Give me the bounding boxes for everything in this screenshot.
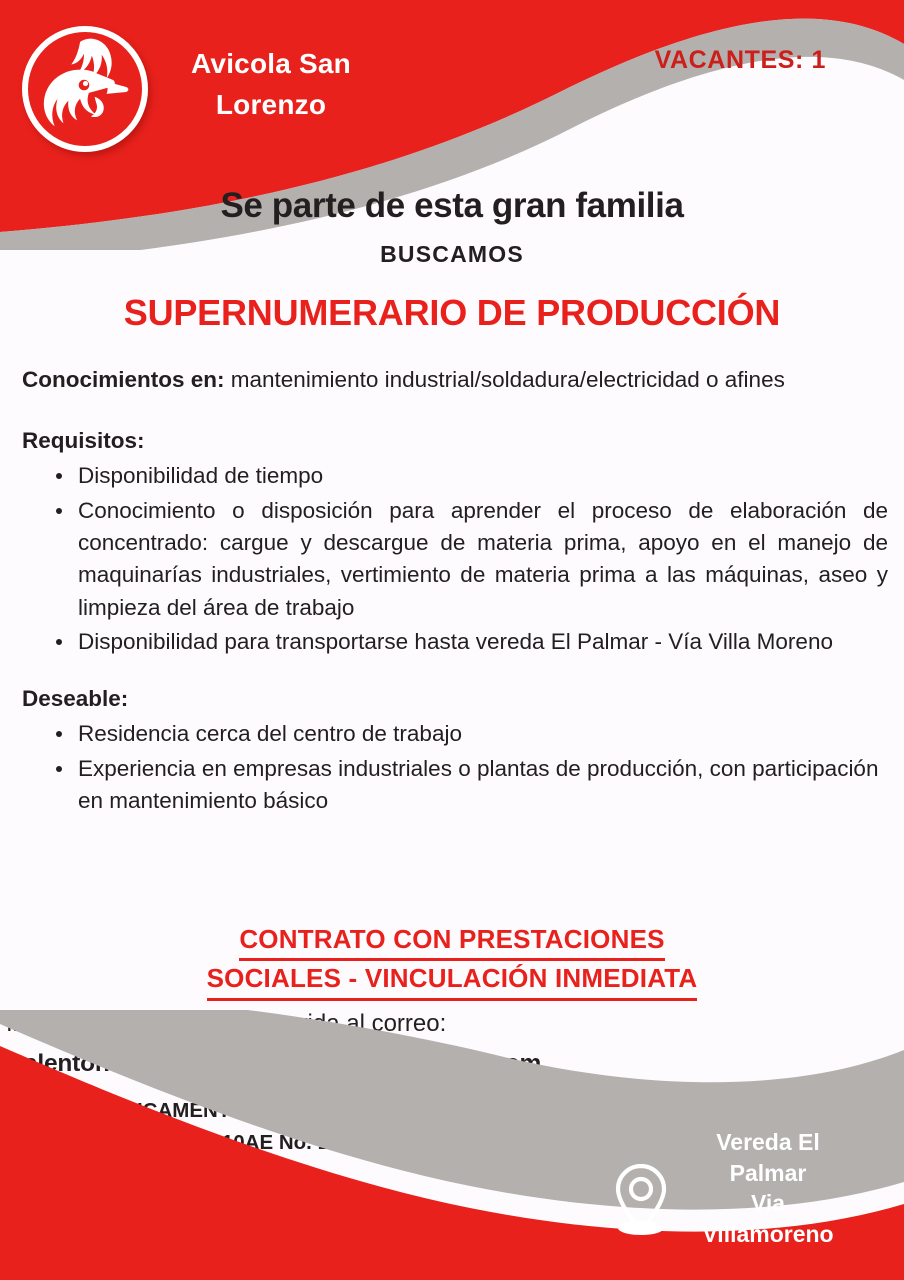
contract-line-2: SOCIALES - VINCULACIÓN INMEDIATA [207, 961, 698, 1000]
contract-line-1: CONTRATO CON PRESTACIONES [239, 922, 664, 961]
location-line-1: Vereda El [668, 1127, 868, 1158]
company-logo [22, 26, 148, 152]
poster-header: Avicola San Lorenzo VACANTES: 1 [0, 0, 904, 185]
contact-email[interactable]: talentohumanoavicolasanlorenzo@gmail.com [16, 1050, 541, 1078]
poster-body: Conocimientos en: mantenimiento industri… [22, 366, 888, 846]
contract-banner: CONTRATO CON PRESTACIONES SOCIALES - VIN… [0, 922, 904, 1001]
company-name-line-2: Lorenzo [156, 85, 386, 126]
list-item: Disponibilidad para transportarse hasta … [52, 626, 888, 658]
buscamos-label: BUSCAMOS [0, 241, 904, 268]
requirements-heading: Requisitos: [22, 428, 888, 454]
desirable-list: Residencia cerca del centro de trabajo E… [22, 718, 888, 817]
job-title: SUPERNUMERARIO DE PRODUCCIÓN [0, 292, 904, 334]
map-pin-icon [610, 1160, 672, 1238]
contact-intro: Interesados enviar hoja de vida al corre… [6, 1010, 446, 1038]
desirable-heading: Deseable: [22, 686, 888, 712]
list-item: Disponibilidad de tiempo [52, 460, 888, 492]
location-line-4: Villamoreno [668, 1219, 868, 1250]
contact-office: ofc. admon: calle 10AE No. 16D-100 B/ Ro… [0, 1127, 560, 1159]
location-line-2: Palmar [668, 1158, 868, 1189]
requirements-list: Disponibilidad de tiempo Conocimiento o … [22, 460, 888, 658]
job-posting-poster: Avicola San Lorenzo VACANTES: 1 Se parte… [0, 0, 904, 1280]
contact-whatsapp: Info. UNICAMENTE vía Whatsapp 3165294295 [0, 1095, 560, 1127]
list-item: Conocimiento o disposición para aprender… [52, 495, 888, 625]
rooster-head-icon [36, 38, 134, 140]
location-line-3: Via [668, 1188, 868, 1219]
knowledge-label: Conocimientos en: [22, 367, 225, 392]
knowledge-line: Conocimientos en: mantenimiento industri… [22, 366, 888, 394]
contact-extra-block: Info. UNICAMENTE vía Whatsapp 3165294295… [0, 1095, 560, 1190]
list-item: Experiencia en empresas industriales o p… [52, 753, 888, 818]
company-name-line-1: Avicola San [156, 44, 386, 85]
company-name: Avicola San Lorenzo [156, 44, 386, 125]
contact-city: Pasto [0, 1159, 560, 1191]
vacancies-badge: VACANTES: 1 [655, 46, 826, 75]
footer-location: Vereda El Palmar Via Villamoreno [668, 1127, 868, 1250]
knowledge-value: mantenimiento industrial/soldadura/elect… [225, 367, 785, 392]
tagline: Se parte de esta gran familia [0, 186, 904, 226]
list-item: Residencia cerca del centro de trabajo [52, 718, 888, 750]
